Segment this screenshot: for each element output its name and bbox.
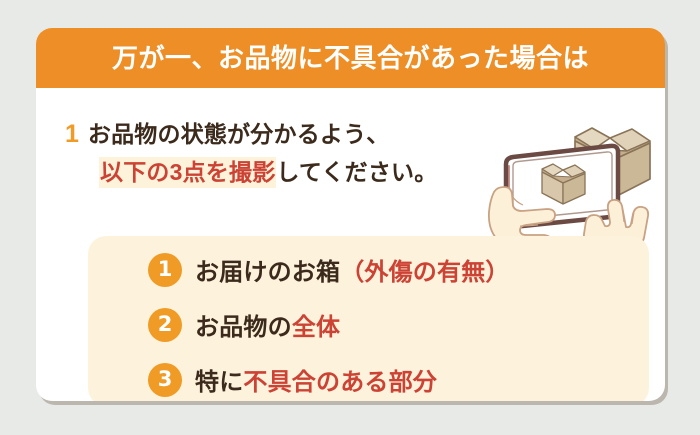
list-item-1-plain: お届けのお箱 [195,259,340,286]
page-title: 万が一、お品物に不具合があった場合は [112,45,589,71]
list-item: 3 特に不具合のある部分 [88,352,649,401]
list-item-2-text: お品物の全体 [195,307,340,342]
hands-holding-tablet-icon [482,116,662,251]
list-item-2-accent: 全体 [292,314,340,341]
list-item-1-text: お届けのお箱（外傷の有無） [195,252,510,287]
list-item: 2 お品物の全体 [88,297,649,352]
notice-card: 万が一、お品物に不具合があった場合は 1 お品物の状態が分かるよう、 以下の3点… [36,28,665,401]
step-number: 1 [65,122,79,147]
list-item-2-plain: お品物の [195,314,292,341]
step-1-suffix: してください。 [276,159,437,185]
photo-checklist-panel: 1 お届けのお箱（外傷の有無） 2 お品物の全体 3 特に不具合のある部分 [88,236,649,401]
header-banner: 万が一、お品物に不具合があった場合は [36,28,665,88]
list-badge-3: 3 [148,363,182,397]
list-badge-1: 1 [148,253,182,287]
list-item-3-accent: 不具合のある部分 [243,369,437,396]
list-item: 1 お届けのお箱（外傷の有無） [88,242,649,297]
step-1-text: お品物の状態が分かるよう、 [88,118,390,151]
card-body: 1 お品物の状態が分かるよう、 以下の3点を撮影してください。 [36,88,665,401]
step-1-highlight: 以下の3点を撮影 [99,157,276,188]
list-item-3-text: 特に不具合のある部分 [195,362,437,397]
list-badge-2: 2 [148,308,182,342]
list-item-3-plain: 特に [195,369,243,396]
step-1-block: 1 お品物の状態が分かるよう、 以下の3点を撮影してください。 [65,118,535,188]
list-item-1-accent: （外傷の有無） [340,259,509,286]
step-1-line-1: 1 お品物の状態が分かるよう、 [65,118,535,151]
step-1-line-2: 以下の3点を撮影してください。 [99,156,535,188]
